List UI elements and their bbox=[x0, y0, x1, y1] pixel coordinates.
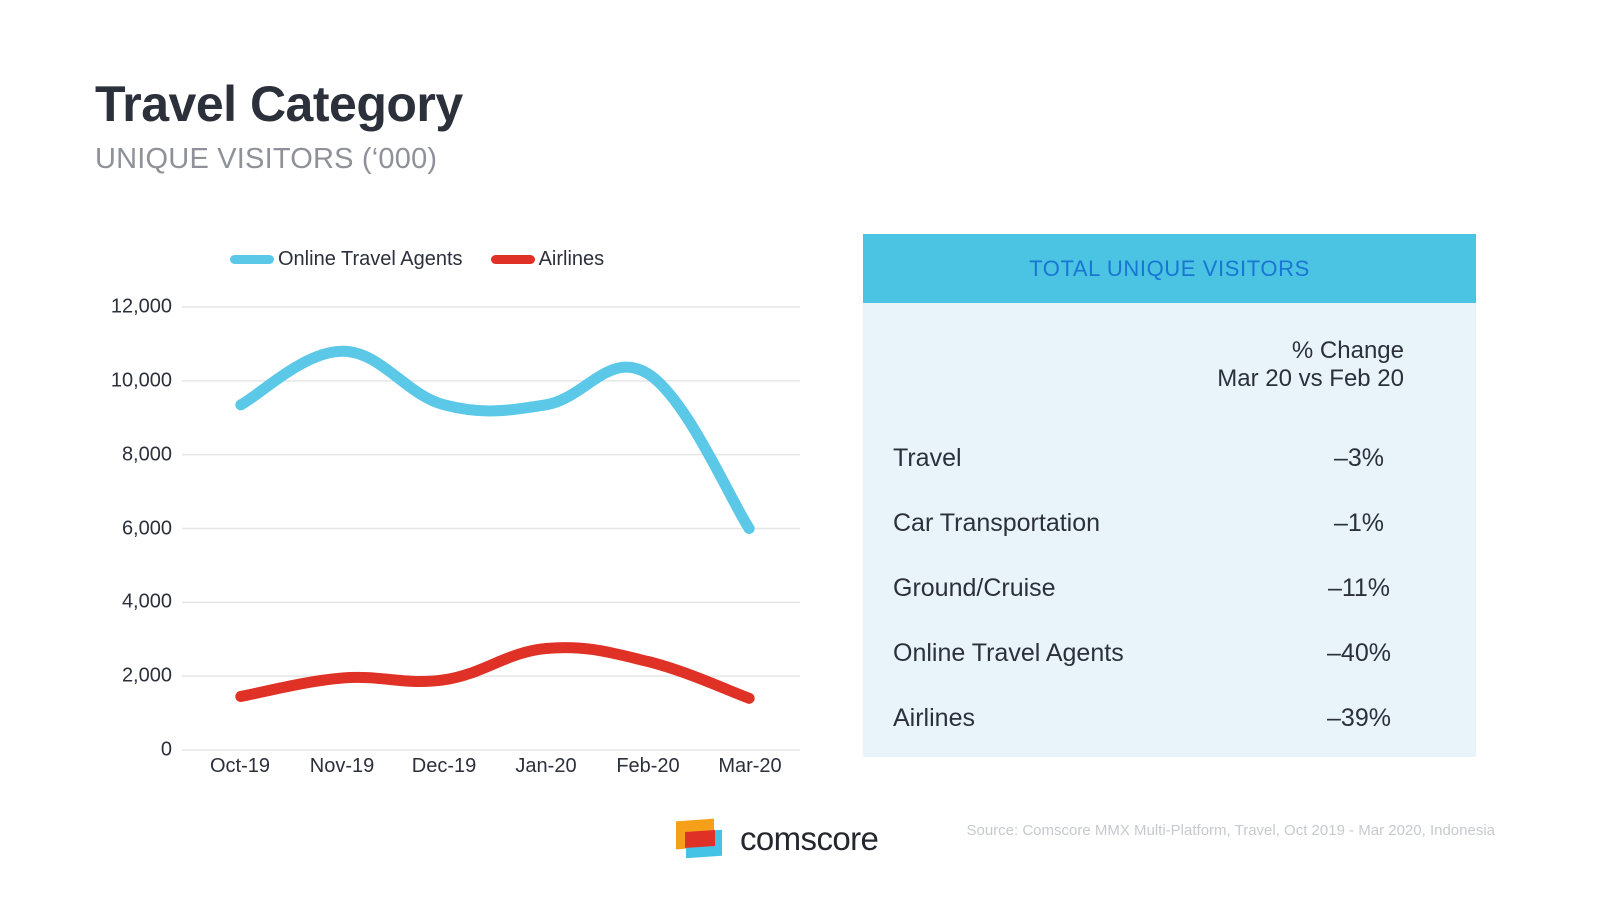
page-title: Travel Category bbox=[95, 78, 995, 131]
table-column-header: % Change Mar 20 vs Feb 20 bbox=[893, 303, 1446, 392]
logo-shape-red bbox=[685, 830, 715, 848]
table-row: Ground/Cruise–11% bbox=[893, 556, 1446, 621]
page-subtitle: UNIQUE VISITORS (‘000) bbox=[95, 143, 995, 176]
table-row: Online Travel Agents–40% bbox=[893, 621, 1446, 686]
x-tick-label: Nov-19 bbox=[292, 755, 392, 778]
comscore-logo-icon bbox=[672, 818, 724, 860]
table-row-value: –3% bbox=[1284, 444, 1446, 473]
table-row-value: –1% bbox=[1284, 509, 1446, 538]
table-body: % Change Mar 20 vs Feb 20 Travel–3%Car T… bbox=[863, 303, 1476, 751]
plot-area bbox=[80, 285, 800, 795]
chart-legend: Online Travel Agents Airlines bbox=[230, 248, 604, 271]
table-row: Car Transportation–1% bbox=[893, 491, 1446, 556]
table-row: Airlines–39% bbox=[893, 686, 1446, 751]
legend-label-online-travel-agents: Online Travel Agents bbox=[278, 248, 463, 271]
table-header-title: TOTAL UNIQUE VISITORS bbox=[1029, 256, 1310, 282]
legend-swatch-online-travel-agents bbox=[230, 255, 274, 264]
table-row-label: Ground/Cruise bbox=[893, 574, 1056, 603]
x-tick-label: Feb-20 bbox=[598, 755, 698, 778]
column-header-line2: Mar 20 vs Feb 20 bbox=[893, 365, 1404, 393]
table-row-value: –39% bbox=[1284, 704, 1446, 733]
table-row-value: –40% bbox=[1284, 639, 1446, 668]
x-tick-label: Dec-19 bbox=[394, 755, 494, 778]
legend-item-online-travel-agents[interactable]: Online Travel Agents bbox=[230, 248, 463, 271]
table-row-label: Airlines bbox=[893, 704, 975, 733]
header: Travel Category UNIQUE VISITORS (‘000) bbox=[95, 78, 995, 176]
table-row: Travel–3% bbox=[893, 426, 1446, 491]
x-tick-label: Oct-19 bbox=[190, 755, 290, 778]
series-line-0 bbox=[241, 351, 749, 528]
legend-swatch-airlines bbox=[491, 255, 535, 264]
summary-table-panel: TOTAL UNIQUE VISITORS % Change Mar 20 vs… bbox=[863, 234, 1476, 757]
series-lines bbox=[241, 351, 749, 698]
table-rows: Travel–3%Car Transportation–1%Ground/Cru… bbox=[893, 426, 1446, 751]
line-chart: Online Travel Agents Airlines 12,00010,0… bbox=[80, 240, 800, 800]
source-note: Source: Comscore MMX Multi-Platform, Tra… bbox=[966, 822, 1495, 839]
x-tick-label: Jan-20 bbox=[496, 755, 596, 778]
comscore-logo: comscore bbox=[672, 818, 878, 860]
table-row-value: –11% bbox=[1284, 574, 1446, 603]
legend-label-airlines: Airlines bbox=[539, 248, 605, 271]
table-row-label: Car Transportation bbox=[893, 509, 1100, 538]
x-tick-label: Mar-20 bbox=[700, 755, 800, 778]
column-header-line1: % Change bbox=[893, 337, 1404, 365]
legend-item-airlines[interactable]: Airlines bbox=[491, 248, 605, 271]
chart-svg bbox=[80, 285, 800, 795]
comscore-wordmark: comscore bbox=[740, 820, 878, 858]
x-axis: Oct-19Nov-19Dec-19Jan-20Feb-20Mar-20 bbox=[190, 755, 800, 778]
table-row-label: Travel bbox=[893, 444, 962, 473]
table-header: TOTAL UNIQUE VISITORS bbox=[863, 234, 1476, 303]
table-row-label: Online Travel Agents bbox=[893, 639, 1124, 668]
series-line-1 bbox=[241, 648, 749, 699]
